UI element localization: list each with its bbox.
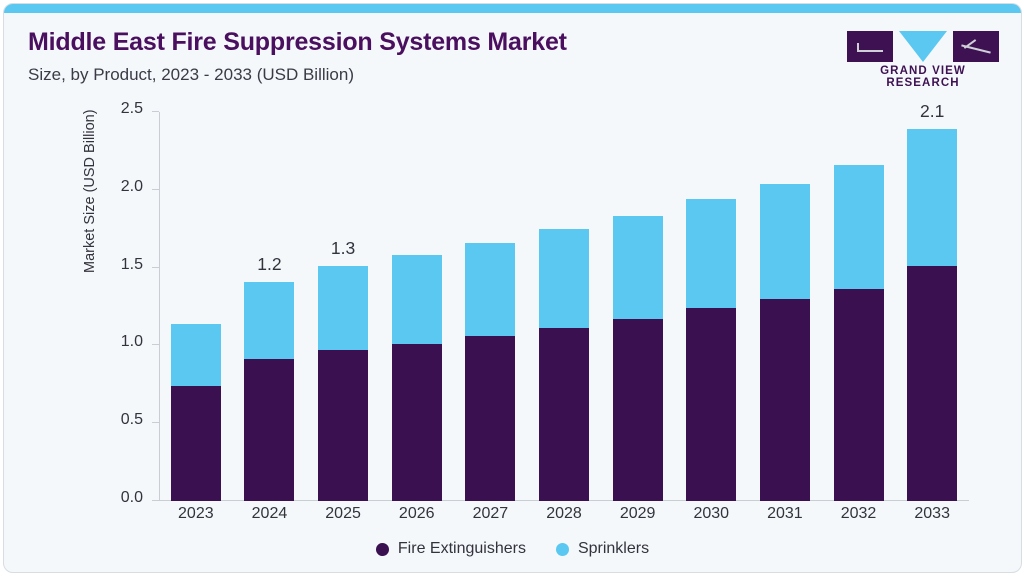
x-axis-tick-label: 2026 [399, 505, 435, 523]
y-axis-tick: 1.5 [152, 267, 159, 268]
bar-group[interactable]: 2.1 [907, 129, 957, 501]
bar-group[interactable] [392, 255, 442, 501]
legend-item[interactable]: Fire Extinguishers [376, 540, 526, 558]
x-axis-tick-label: 2028 [546, 505, 582, 523]
bar-group[interactable] [465, 243, 515, 501]
y-axis-tick: 2.5 [152, 111, 159, 112]
x-axis-tick-label: 2025 [325, 505, 361, 523]
x-axis-tick-label: 2023 [178, 505, 214, 523]
x-axis-tick-label: 2027 [473, 505, 509, 523]
top-accent-bar [4, 4, 1021, 13]
y-axis-tick-label: 1.5 [121, 256, 143, 274]
y-axis-tick: 2.0 [152, 189, 159, 190]
y-axis-tick-label: 2.5 [121, 100, 143, 118]
y-axis-tick: 1.0 [152, 344, 159, 345]
x-axis-labels: 2023202420252026202720282029203020312032… [159, 505, 969, 529]
chart-legend: Fire ExtinguishersSprinklers [4, 540, 1021, 558]
y-axis-tick-label: 2.0 [121, 178, 143, 196]
bar-segment-fire-extinguishers[interactable] [686, 308, 736, 501]
bar-segment-fire-extinguishers[interactable] [907, 266, 957, 501]
bar-segment-fire-extinguishers[interactable] [244, 359, 294, 501]
logo-triangle-icon [899, 31, 947, 62]
y-axis-tick-label: 0.5 [121, 411, 143, 429]
bar-segment-fire-extinguishers[interactable] [760, 299, 810, 501]
y-axis-tick: 0.0 [152, 500, 159, 501]
page-subtitle: Size, by Product, 2023 - 2033 (USD Billi… [28, 65, 354, 85]
bar-value-label: 1.2 [257, 254, 281, 275]
bar-segment-fire-extinguishers[interactable] [834, 289, 884, 501]
logo-wordmark: GRAND VIEW RESEARCH [847, 65, 999, 89]
bar-segment-fire-extinguishers[interactable] [465, 336, 515, 501]
x-axis-tick-label: 2033 [914, 505, 950, 523]
bar-group[interactable] [539, 229, 589, 501]
y-axis-tick-label: 0.0 [121, 489, 143, 507]
bar-group[interactable]: 1.2 [244, 282, 294, 501]
y-axis-label: Market Size (USD Billion) [82, 109, 98, 273]
logo-block-left-icon [847, 31, 893, 62]
bar-value-label: 2.1 [920, 101, 944, 122]
logo-block-right-icon [953, 31, 999, 62]
x-axis-tick-label: 2024 [252, 505, 288, 523]
y-axis-tick-label: 1.0 [121, 333, 143, 351]
page-title: Middle East Fire Suppression Systems Mar… [28, 28, 567, 57]
bar-group[interactable] [171, 324, 221, 501]
logo-marks [847, 31, 999, 62]
bar-value-label: 1.3 [331, 238, 355, 259]
x-axis-tick-label: 2031 [767, 505, 803, 523]
bar-segment-fire-extinguishers[interactable] [613, 319, 663, 501]
y-axis-tick: 0.5 [152, 422, 159, 423]
legend-swatch-icon [556, 543, 569, 556]
x-axis-tick-label: 2029 [620, 505, 656, 523]
bar-group[interactable] [760, 184, 810, 501]
x-axis-tick-label: 2032 [841, 505, 877, 523]
chart-header: Middle East Fire Suppression Systems Mar… [4, 13, 1021, 93]
bar-group[interactable] [613, 216, 663, 501]
bar-group[interactable] [686, 199, 736, 501]
legend-item[interactable]: Sprinklers [556, 540, 649, 558]
legend-label: Sprinklers [578, 540, 649, 558]
axes: 0.00.51.01.52.02.5 1.21.32.1 [159, 112, 969, 501]
grand-view-research-logo: GRAND VIEW RESEARCH [847, 31, 999, 83]
legend-label: Fire Extinguishers [398, 540, 526, 558]
bar-segment-fire-extinguishers[interactable] [539, 328, 589, 501]
bar-group[interactable]: 1.3 [318, 266, 368, 501]
bar-segment-fire-extinguishers[interactable] [392, 344, 442, 501]
chart-card: Middle East Fire Suppression Systems Mar… [3, 3, 1022, 573]
bar-group[interactable] [834, 165, 884, 501]
bar-segment-fire-extinguishers[interactable] [318, 350, 368, 501]
x-axis-tick-label: 2030 [693, 505, 729, 523]
plot-area: Market Size (USD Billion) 0.00.51.01.52.… [4, 93, 1022, 513]
bar-segment-fire-extinguishers[interactable] [171, 386, 221, 501]
legend-swatch-icon [376, 543, 389, 556]
bar-series-container: 1.21.32.1 [159, 112, 969, 501]
